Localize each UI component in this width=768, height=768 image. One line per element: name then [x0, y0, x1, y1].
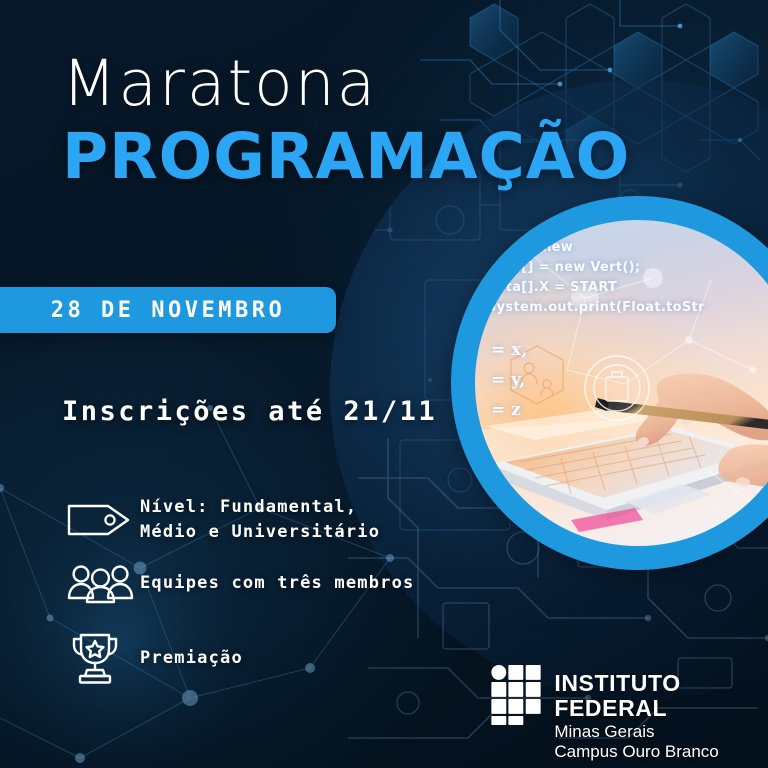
feature-list: Nível: Fundamental, Médio e Universitári…	[66, 495, 496, 708]
logo-text: INSTITUTO FEDERAL Minas Gerais Campus Ou…	[554, 660, 768, 763]
poster-root: Maratona PROGRAMAÇÃO 28 DE NOVEMBRO Insc…	[0, 0, 768, 768]
axis-line-y: = y,	[491, 366, 527, 396]
code-line-2: data[] = new Vert();	[487, 258, 768, 278]
registration-deadline: Inscrições até 21/11	[62, 396, 437, 427]
feature-prize-line1: Premiação	[140, 648, 243, 668]
axis-overlay: = x, = y, = z	[491, 336, 527, 425]
code-overlay: data = new data[] = new Vert(); data[].X…	[487, 238, 768, 319]
title-block: Maratona PROGRAMAÇÃO	[62, 52, 630, 188]
logo-line-institution: INSTITUTO FEDERAL	[554, 671, 768, 722]
code-line-4: System.out.print(Float.toStr	[487, 298, 768, 318]
logo-line-campus: Campus Ouro Branco	[554, 742, 768, 763]
list-item: Equipes com três membros	[66, 562, 496, 604]
list-item-label: Nível: Fundamental, Médio e Universitári…	[140, 495, 380, 544]
axis-line-z: = z	[491, 396, 527, 426]
trophy-icon	[66, 630, 140, 686]
feature-level-line2: Médio e Universitário	[140, 520, 380, 545]
list-item: Premiação	[66, 630, 496, 686]
feature-teams-line1: Equipes com três membros	[140, 573, 414, 593]
page-title: Maratona	[62, 52, 630, 115]
instituto-federal-logo: INSTITUTO FEDERAL Minas Gerais Campus Ou…	[491, 660, 768, 763]
list-item-label: Equipes com três membros	[140, 571, 414, 596]
axis-line-x: = x,	[491, 336, 527, 366]
logo-line-state: Minas Gerais	[554, 722, 768, 743]
tag-icon	[66, 500, 140, 540]
code-line-1: data = new	[487, 238, 768, 258]
date-badge-label: 28 DE NOVEMBRO	[51, 298, 285, 323]
feature-level-line1: Nível: Fundamental,	[140, 497, 357, 517]
laptop-photo: data = new data[] = new Vert(); data[].X…	[475, 220, 768, 546]
list-item-label: Premiação	[140, 646, 243, 671]
instituto-federal-grid-mark	[491, 660, 541, 730]
people-icon	[66, 562, 140, 604]
date-badge: 28 DE NOVEMBRO	[0, 287, 336, 333]
list-item: Nível: Fundamental, Médio e Universitári…	[66, 495, 496, 544]
page-subtitle: PROGRAMAÇÃO	[62, 125, 630, 188]
code-line-3: data[].X = START	[487, 278, 768, 298]
